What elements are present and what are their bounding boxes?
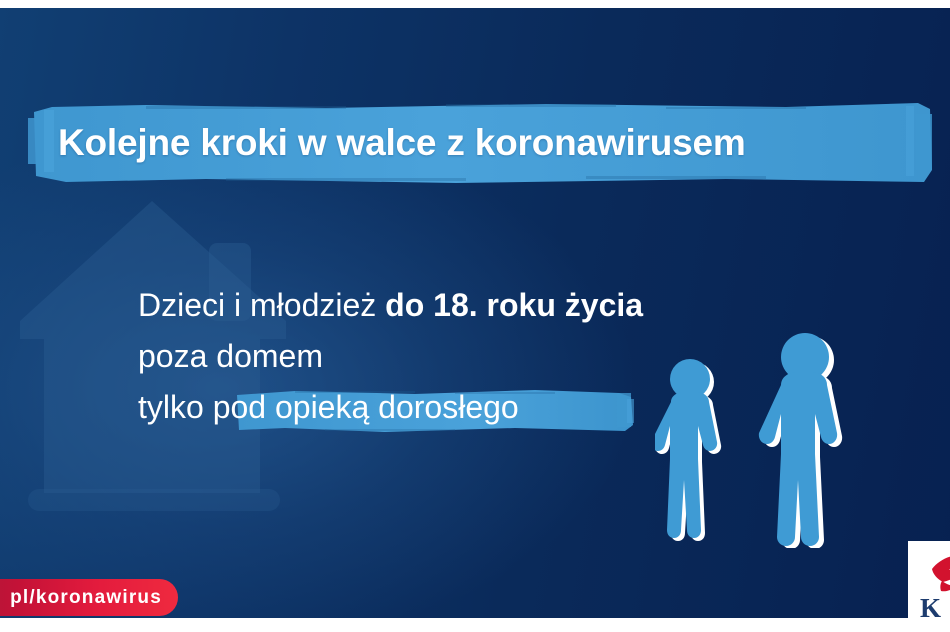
polish-emblem-icon	[922, 553, 950, 597]
logo-wordmark: K	[920, 593, 942, 618]
message-line-2-regular: poza domem	[138, 338, 323, 374]
page-title: Kolejne kroki w walce z koronawirusem	[58, 100, 926, 186]
title-banner: Kolejne kroki w walce z koronawirusem	[26, 100, 936, 186]
url-badge[interactable]: pl/koronawirus	[0, 579, 178, 616]
people-pictograms	[655, 333, 865, 548]
logo-card: K	[908, 541, 950, 618]
message-line-1-bold: do 18. roku życia	[385, 287, 643, 323]
message-line-3-highlighted: pod opieką dorosłego	[213, 389, 519, 425]
poster-frame: Kolejne kroki w walce z koronawirusem Dz…	[0, 0, 950, 632]
message-line-3-prefix: tylko	[138, 389, 213, 425]
adult-pictogram	[759, 333, 842, 548]
child-pictogram	[655, 359, 721, 541]
message-line-1: Dzieci i młodzież do 18. roku życia	[138, 280, 758, 331]
url-badge-text: pl/koronawirus	[10, 587, 162, 609]
message-line-1-regular: Dzieci i młodzież	[138, 287, 385, 323]
poster-stage: Kolejne kroki w walce z koronawirusem Dz…	[0, 8, 950, 618]
